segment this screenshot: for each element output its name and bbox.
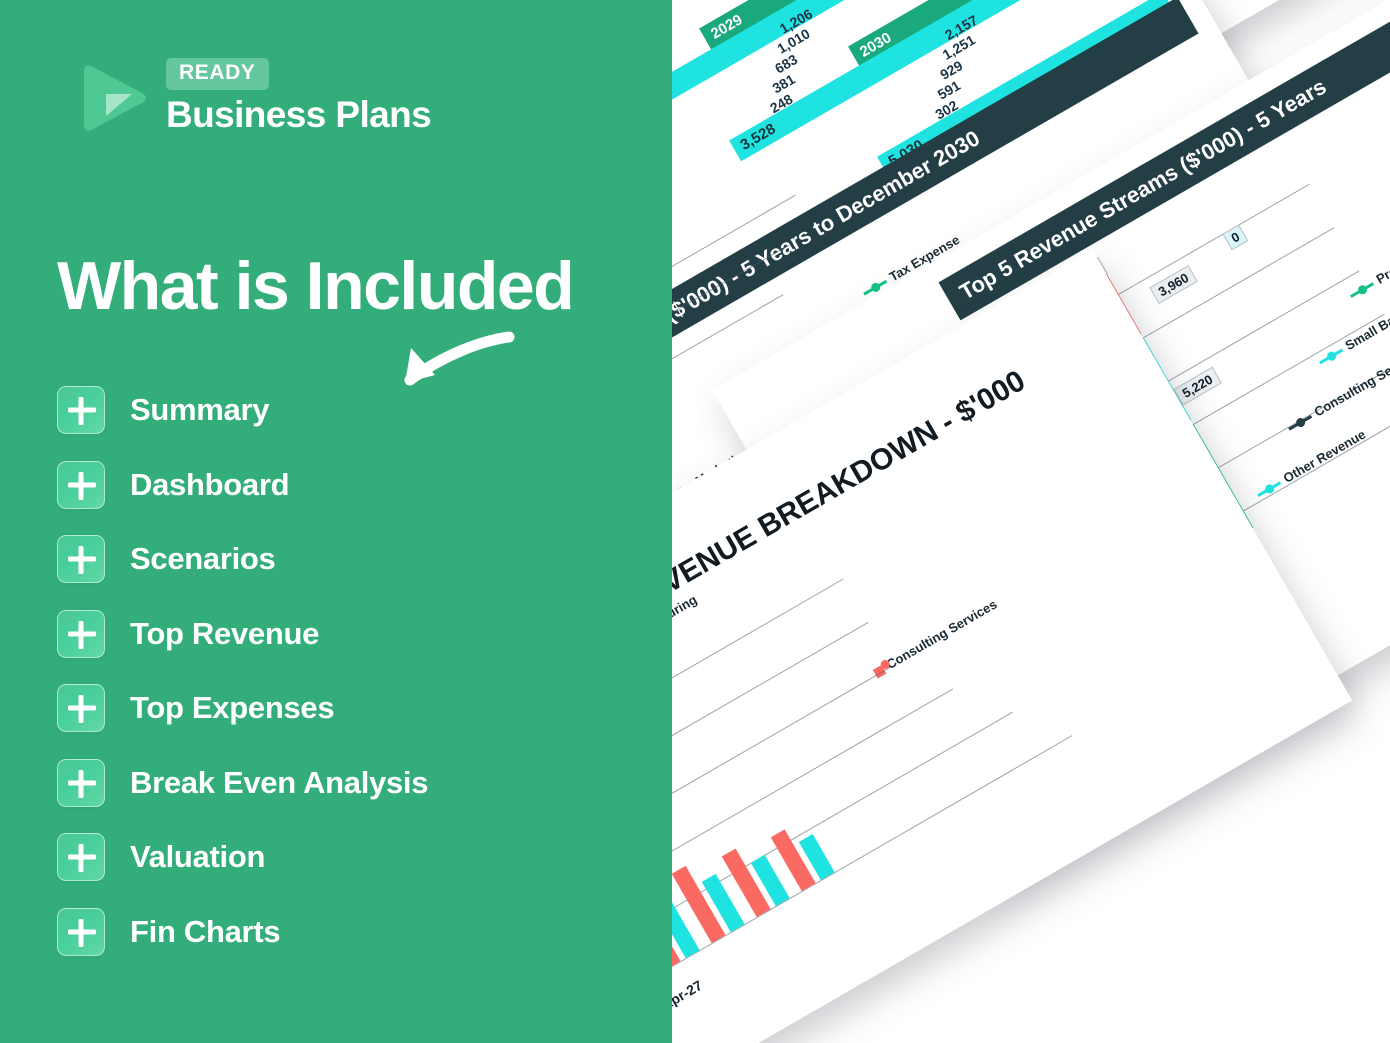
plus-icon[interactable] — [57, 461, 105, 509]
rs-bar-label: 0 — [1222, 224, 1248, 250]
list-item-label: Valuation — [130, 839, 265, 875]
brand-name: Business Plans — [166, 94, 431, 136]
list-item-label: Dashboard — [130, 467, 289, 503]
list-item-top-revenue[interactable]: Top Revenue — [57, 610, 428, 658]
list-item-top-expenses[interactable]: Top Expenses — [57, 684, 428, 732]
legend-marker-icon — [1350, 282, 1374, 298]
list-item-label: Top Expenses — [130, 690, 334, 726]
list-item-label: Break Even Analysis — [130, 765, 428, 801]
plus-icon[interactable] — [57, 833, 105, 881]
plus-icon[interactable] — [57, 908, 105, 956]
list-item-break-even-analysis[interactable]: Break Even Analysis — [57, 759, 428, 807]
rb-gridline — [672, 622, 869, 833]
legend-marker-icon — [1257, 481, 1281, 497]
list-item-fin-charts[interactable]: Fin Charts — [57, 908, 428, 956]
plus-icon[interactable] — [57, 759, 105, 807]
list-item-label: Fin Charts — [130, 914, 280, 950]
legend-marker-icon — [1288, 415, 1312, 431]
plus-icon[interactable] — [57, 535, 105, 583]
brand-lockup: READY Business Plans — [70, 58, 431, 136]
list-item-label: Top Revenue — [130, 616, 319, 652]
plus-icon[interactable] — [57, 684, 105, 732]
rb-month-label: Apr-27 — [672, 977, 705, 1013]
included-items-list: Summary Dashboard Scenarios Top Revenue … — [57, 386, 428, 956]
list-item-label: Scenarios — [130, 541, 276, 577]
list-item-scenarios[interactable]: Scenarios — [57, 535, 428, 583]
list-item-valuation[interactable]: Valuation — [57, 833, 428, 881]
ready-badge: READY — [166, 58, 269, 90]
poster-canvas: Name Table of Contents 128.9 2028 2029 2… — [0, 0, 1390, 1043]
mockup-collage: Name Table of Contents 128.9 2028 2029 2… — [672, 0, 1390, 1043]
play-triangle-icon — [70, 58, 148, 136]
rb-gridline — [672, 712, 1013, 963]
legend-marker-icon — [1319, 349, 1343, 365]
rs-legend-item: Prototype Services — [1347, 215, 1390, 302]
list-item-dashboard[interactable]: Dashboard — [57, 461, 428, 509]
brand-text: READY Business Plans — [166, 58, 431, 136]
list-item-label: Summary — [130, 392, 269, 428]
list-item-summary[interactable]: Summary — [57, 386, 428, 434]
page-title: What is Included — [57, 247, 573, 325]
plus-icon[interactable] — [57, 610, 105, 658]
plus-icon[interactable] — [57, 386, 105, 434]
promo-panel: READY Business Plans What is Included Su… — [0, 0, 672, 1043]
rb-legend-item: Small Batch Manufacturing — [672, 592, 700, 696]
